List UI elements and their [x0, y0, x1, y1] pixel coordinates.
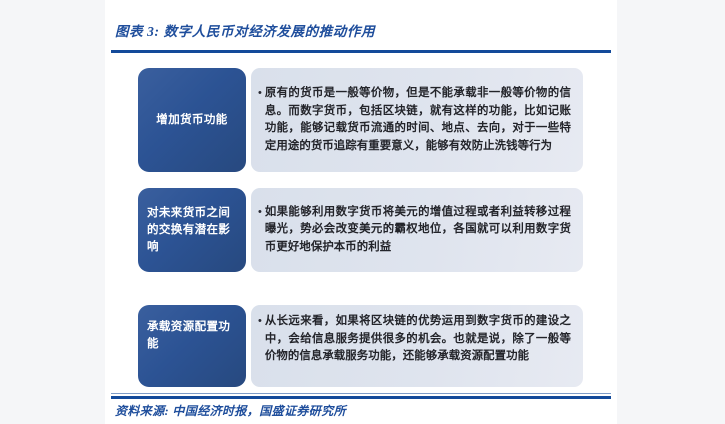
- row-content-panel: • 如果能够利用数字货币将美元的增值过程或者利益转移过程曝光，势必会改变美元的霸…: [251, 188, 583, 272]
- exhibit-row: 对未来货币之间的交换有潜在影响 • 如果能够利用数字货币将美元的增值过程或者利益…: [138, 188, 583, 272]
- bullet-icon: •: [258, 85, 265, 103]
- exhibit-row: 承载资源配置功能 • 从长远来看，如果将区块链的优势运用到数字货币的建设之中，会…: [138, 305, 583, 387]
- row-label-box: 增加货币功能: [138, 68, 246, 172]
- row-content-panel: • 原有的货币是一般等价物，但是不能承载非一般等价物的信息。而数字货币，包括区块…: [251, 68, 583, 172]
- exhibit-row: 增加货币功能 • 原有的货币是一般等价物，但是不能承载非一般等价物的信息。而数字…: [138, 68, 583, 172]
- row-content-text: 从长远来看，如果将区块链的优势运用到数字货币的建设之中，会给信息服务提供很多的机…: [265, 313, 571, 366]
- row-label-text: 对未来货币之间的交换有潜在影响: [147, 205, 237, 256]
- row-content-text: 如果能够利用数字货币将美元的增值过程或者利益转移过程曝光，势必会改变美元的霸权地…: [265, 204, 571, 257]
- row-label-text: 承载资源配置功能: [147, 319, 237, 353]
- exhibit-header: 图表 3: 数字人民币对经济发展的推动作用: [105, 0, 617, 54]
- bullet-icon: •: [258, 313, 265, 331]
- row-content-text: 原有的货币是一般等价物，但是不能承载非一般等价物的信息。而数字货币，包括区块链，…: [265, 85, 571, 155]
- exhibit-body: 增加货币功能 • 原有的货币是一般等价物，但是不能承载非一般等价物的信息。而数字…: [105, 54, 617, 390]
- row-label-box: 承载资源配置功能: [138, 305, 246, 387]
- exhibit-footer: 资料来源: 中国经济时报，国盛证券研究所: [105, 390, 617, 424]
- title-divider: [111, 50, 611, 53]
- footer-divider-thick: [111, 396, 611, 399]
- bullet-icon: •: [258, 204, 265, 222]
- row-label-box: 对未来货币之间的交换有潜在影响: [138, 188, 246, 272]
- row-label-text: 增加货币功能: [156, 112, 227, 129]
- exhibit-source-note: 资料来源: 中国经济时报，国盛证券研究所: [115, 402, 346, 419]
- exhibit-title: 图表 3: 数字人民币对经济发展的推动作用: [115, 20, 375, 40]
- exhibit-card: 图表 3: 数字人民币对经济发展的推动作用 增加货币功能 • 原有的货币是一般等…: [105, 0, 617, 424]
- row-content-panel: • 从长远来看，如果将区块链的优势运用到数字货币的建设之中，会给信息服务提供很多…: [251, 305, 583, 387]
- footer-divider-thin: [111, 393, 611, 394]
